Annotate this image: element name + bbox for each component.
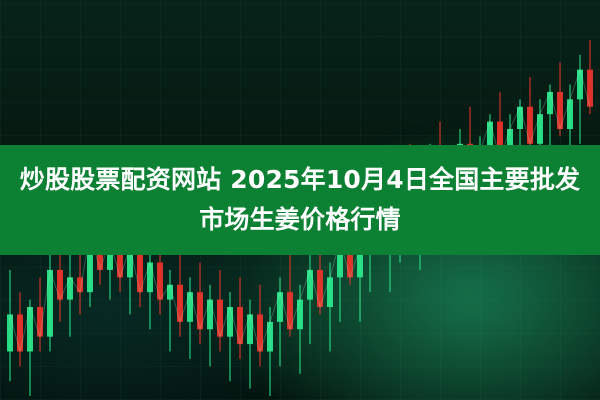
page-title: 炒股股票配资网站 2025年10月4日全国主要批发市场生姜价格行情 (14, 160, 586, 240)
screenshot-root: 炒股股票配资网站 2025年10月4日全国主要批发市场生姜价格行情 (0, 0, 600, 400)
title-banner: 炒股股票配资网站 2025年10月4日全国主要批发市场生姜价格行情 (0, 145, 600, 255)
